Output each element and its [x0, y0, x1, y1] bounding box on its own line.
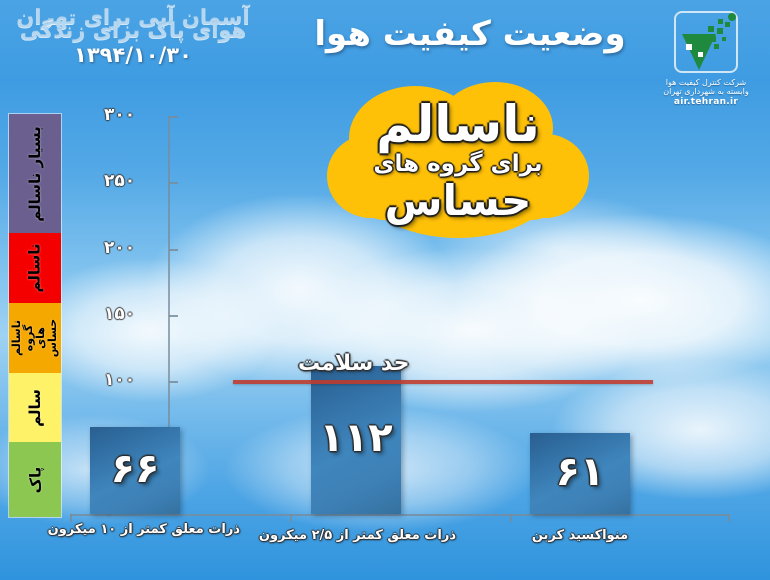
legend-label-moderate: سالم	[26, 389, 44, 427]
org-website: air.tehran.ir	[646, 97, 766, 107]
legend-label-unhealthy-sensitive: ناسالم گروه های حساس	[11, 312, 59, 364]
y-label-200: ۲۰۰	[104, 238, 164, 258]
y-label-250: ۲۵۰	[104, 171, 164, 191]
y-label-300: ۳۰۰	[104, 105, 164, 125]
infographic-root: آسمان آبی برای تهران هوای پاک برای زندگی…	[0, 0, 770, 580]
x-label-pm10: ذرات معلق کمتر از ۱۰ میکرون	[50, 522, 240, 537]
org-affiliation: وابسته به شهرداری تهران	[646, 87, 766, 96]
legend-band-good: پاک	[9, 442, 61, 517]
company-logo-icon	[670, 6, 742, 78]
aqi-bar-chart: ۳۰۰ ۲۵۰ ۲۰۰ ۱۵۰ ۱۰۰ ۵۰ ۰ ۶۶ ۱۱۲ ۶۱ حد سل…	[70, 108, 764, 520]
y-tick-300	[169, 116, 178, 118]
x-tick-2	[290, 514, 292, 522]
y-tick-250	[169, 182, 178, 184]
bar-pm10[interactable]: ۶۶	[90, 427, 180, 514]
x-tick-4	[728, 514, 730, 522]
health-threshold-label: حد سلامت	[298, 351, 409, 376]
brand-right: شرکت کنترل کیفیت هوا وابسته به شهرداری ت…	[646, 6, 766, 107]
legend-band-unhealthy: ناسالم	[9, 233, 61, 303]
legend-label-very-unhealthy: بسیار ناسالم	[26, 126, 44, 222]
x-tick-3	[510, 514, 512, 522]
bar-pm25[interactable]: ۱۱۲	[311, 366, 401, 514]
org-name: شرکت کنترل کیفیت هوا	[646, 78, 766, 87]
y-label-150: ۱۵۰	[104, 304, 164, 324]
y-label-100: ۱۰۰	[104, 370, 164, 390]
x-axis	[70, 514, 730, 516]
bar-value-co: ۶۱	[556, 449, 605, 495]
page-title: وضعیت کیفیت هوا	[275, 14, 665, 54]
x-label-pm25: ذرات معلق کمتر از ۲/۵ میکرون	[266, 528, 456, 543]
y-tick-100	[169, 381, 178, 383]
y-tick-200	[169, 249, 178, 251]
x-tick-1	[70, 514, 72, 522]
brand-slogan-line2: هوای پاک برای زندگی	[8, 21, 258, 40]
bar-value-pm10: ۶۶	[111, 446, 160, 492]
legend-band-very-unhealthy: بسیار ناسالم	[9, 114, 61, 233]
y-tick-150	[169, 315, 178, 317]
bar-co[interactable]: ۶۱	[530, 433, 630, 514]
legend-label-good: پاک	[26, 466, 44, 493]
report-date: ۱۳۹۴/۱۰/۳۰	[8, 43, 258, 67]
legend-band-unhealthy-sensitive: ناسالم گروه های حساس	[9, 303, 61, 373]
aqi-legend: بسیار ناسالم ناسالم ناسالم گروه های حساس…	[8, 113, 62, 518]
brand-left: آسمان آبی برای تهران هوای پاک برای زندگی…	[8, 8, 258, 67]
bar-value-pm25: ۱۱۲	[319, 415, 392, 461]
legend-label-unhealthy: ناسالم	[26, 244, 44, 293]
x-label-co: منواکسید کربن	[500, 528, 660, 543]
health-threshold-line	[233, 380, 653, 384]
legend-band-moderate: سالم	[9, 373, 61, 443]
